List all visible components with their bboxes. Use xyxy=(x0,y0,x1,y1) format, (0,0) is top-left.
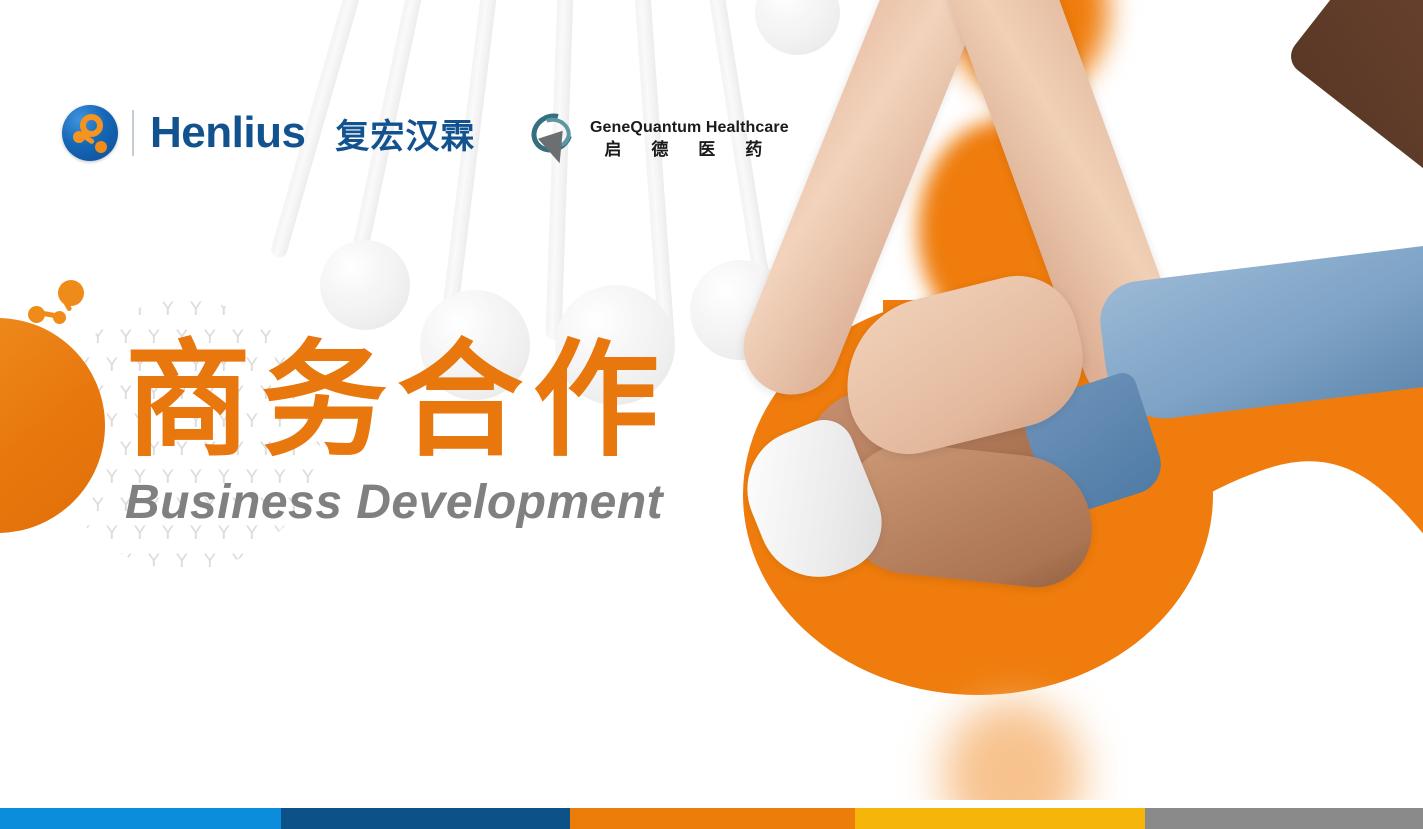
presentation-slide: YYYYYYYYYYYYYYYYYYYYYYYYYYYYYYYYYYYYYYYY… xyxy=(0,0,1423,829)
antibody-glyph: Y xyxy=(78,524,91,542)
henlius-logo: Henlius 复宏汉霖 xyxy=(62,105,475,161)
henlius-chinese-name: 复宏汉霖 xyxy=(335,109,475,158)
antibody-glyph: Y xyxy=(218,300,231,318)
antibody-glyph: Y xyxy=(288,552,301,570)
bar-segment-gray xyxy=(1145,808,1423,829)
logo-divider xyxy=(132,110,134,156)
antibody-glyph: Y xyxy=(120,552,133,570)
bar-segment-orange xyxy=(570,808,855,829)
antibody-glyph: Y xyxy=(50,524,63,542)
antibody-glyph: Y xyxy=(64,552,77,570)
genequantum-logo: GeneQuantum Healthcare 启 德 医 药 xyxy=(528,112,789,168)
antibody-glyph: Y xyxy=(106,356,119,374)
antibody-glyph: Y xyxy=(316,552,320,570)
antibody-glyph: Y xyxy=(92,552,105,570)
henlius-wordmark: Henlius xyxy=(150,111,305,155)
bar-segment-light-blue xyxy=(0,808,281,829)
genequantum-english-name: GeneQuantum Healthcare xyxy=(590,118,789,138)
antibody-glyph: Y xyxy=(106,524,119,542)
antibody-glyph: Y xyxy=(134,300,147,318)
antibody-glyph: Y xyxy=(274,300,287,318)
hands-stacked-teamwork-photo xyxy=(703,0,1423,800)
antibody-glyph: Y xyxy=(246,300,259,318)
title-block: 商务合作 Business Development xyxy=(125,335,669,530)
antibody-glyph: Y xyxy=(106,468,119,486)
antibody-glyph: Y xyxy=(176,552,189,570)
antibody-glyph: Y xyxy=(302,300,315,318)
bar-segment-dark-blue xyxy=(281,808,570,829)
antibody-glyph: Y xyxy=(92,496,105,514)
antibody-glyph: Y xyxy=(260,552,273,570)
peach-blur-blob xyxy=(943,700,1083,800)
antibody-glyph: Y xyxy=(204,552,217,570)
bottom-color-bar xyxy=(0,808,1423,829)
molecule-icon xyxy=(28,280,88,328)
antibody-glyph: Y xyxy=(162,300,175,318)
genequantum-chinese-name: 启 德 医 药 xyxy=(590,140,789,161)
antibody-glyph: Y xyxy=(106,412,119,430)
henlius-molecule-mark xyxy=(62,105,118,161)
antibody-glyph: Y xyxy=(190,300,203,318)
antibody-glyph: Y xyxy=(148,552,161,570)
antibody-glyph: Y xyxy=(232,552,245,570)
page-subtitle: Business Development xyxy=(125,475,669,530)
antibody-glyph: Y xyxy=(92,328,105,346)
bar-segment-yellow xyxy=(855,808,1145,829)
page-title: 商务合作 xyxy=(125,335,669,467)
antibody-glyph: Y xyxy=(106,300,119,318)
genequantum-swoosh-mark xyxy=(528,112,580,168)
arm-right-dark xyxy=(1284,0,1423,182)
